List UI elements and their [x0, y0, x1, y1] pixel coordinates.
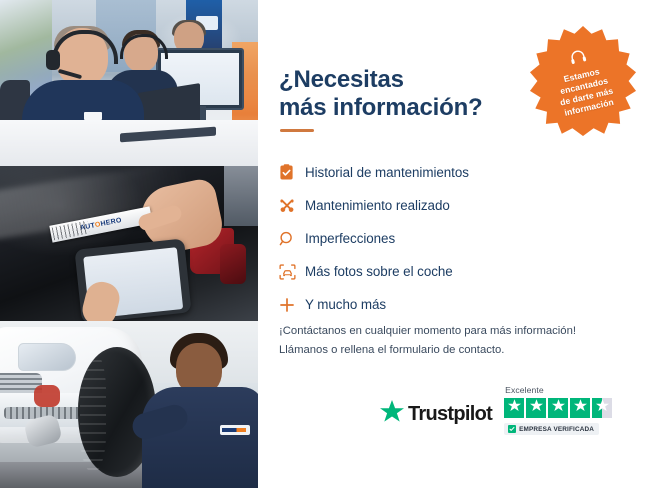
feature-item-mas: Y mucho más — [279, 288, 609, 321]
feature-label: Imperfecciones — [305, 231, 395, 246]
headline-line-1: ¿Necesitas — [279, 66, 514, 94]
feature-label: Y mucho más — [305, 297, 386, 312]
foreground-desk — [0, 120, 258, 166]
contact-copy: ¡Contáctanos en cualquier momento para m… — [279, 322, 639, 361]
verified-check-icon — [508, 425, 516, 433]
feature-item-historial: Historial de mantenimientos — [279, 156, 609, 189]
verified-label: EMPRESA VERIFICADA — [519, 426, 594, 433]
tire-tread — [80, 351, 106, 473]
clipboard-check-icon — [279, 164, 305, 181]
star-filled — [526, 398, 546, 418]
contact-line-1: ¡Contáctanos en cualquier momento para m… — [279, 322, 639, 341]
verified-company-badge: EMPRESA VERIFICADA — [504, 423, 599, 435]
feature-item-mantenimiento: Mantenimiento realizado — [279, 189, 609, 222]
promo-banner: AUTOHERO — [0, 0, 650, 488]
inspector-arm — [224, 166, 258, 226]
headset-earcup — [46, 50, 60, 70]
page-title: ¿Necesitas más información? — [279, 66, 514, 123]
car-inspection-ruler-photo: AUTOHERO — [0, 166, 258, 321]
star-filled — [504, 398, 524, 418]
photo-column: AUTOHERO — [0, 0, 258, 488]
badge-text: Estamos encantados de darte más informac… — [539, 60, 633, 122]
star-filled — [570, 398, 590, 418]
star-half — [592, 398, 612, 418]
feature-label: Historial de mantenimientos — [305, 165, 469, 180]
plus-icon — [279, 297, 305, 313]
content-panel: Estamos encantados de darte más informac… — [258, 0, 650, 488]
feature-label: Mantenimiento realizado — [305, 198, 450, 213]
title-underline-rule — [280, 129, 314, 132]
trustpilot-rating-label: Excelente — [505, 385, 544, 395]
star-filled — [548, 398, 568, 418]
trustpilot-star-icon — [380, 400, 404, 428]
feature-item-fotos: Más fotos sobre el coche — [279, 255, 609, 288]
mechanic-tool — [34, 385, 60, 407]
headset-icon — [567, 47, 588, 70]
car-taillight-secondary — [220, 244, 246, 284]
feature-item-imperfecciones: Imperfecciones — [279, 222, 609, 255]
trustpilot-wordmark: Trustpilot — [408, 403, 492, 426]
trustpilot-widget[interactable]: Trustpilot Excelente EMPRESA VERIFICADA — [380, 385, 630, 435]
car-scan-icon — [279, 264, 305, 280]
trustpilot-stars — [504, 398, 612, 418]
magnifier-icon — [279, 231, 305, 247]
trustpilot-logo: Trustpilot — [380, 400, 492, 435]
call-center-agents-photo — [0, 0, 258, 166]
uniform-logo — [220, 425, 250, 435]
mechanic-wheel-inspection-photo — [0, 321, 258, 488]
mechanic-figure — [136, 329, 258, 488]
tools-wrench-screwdriver-icon — [279, 198, 305, 214]
car-headlight — [18, 343, 76, 371]
feature-label: Más fotos sobre el coche — [305, 264, 453, 279]
trustpilot-rating-block: Excelente EMPRESA VERIFICADA — [504, 385, 612, 435]
contact-line-2: Llámanos o rellena el formulario de cont… — [279, 341, 639, 360]
ruler-brand-suffix: HERO — [100, 217, 122, 228]
info-badge: Estamos encantados de darte más informac… — [530, 26, 636, 136]
feature-list: Historial de mantenimientos Mantenimient… — [279, 156, 609, 321]
ruler-brand-prefix: AUT — [80, 222, 96, 232]
headline-line-2: más información? — [279, 94, 514, 122]
